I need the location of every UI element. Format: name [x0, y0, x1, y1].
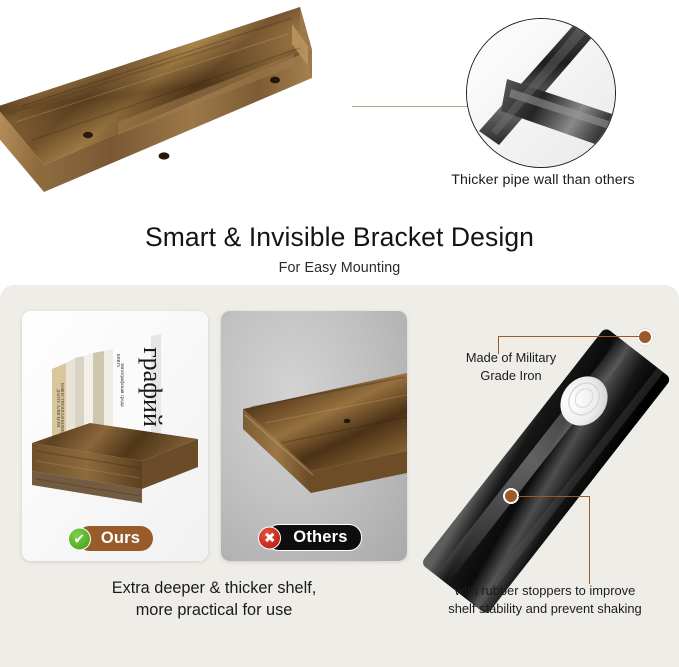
ours-scene: БОЖЕСТВЕННАЯ КОМЕДИЯ ДАНТЕ АЛИГЬЕРИ граф…: [22, 311, 208, 561]
marker-dot-stopper: [503, 488, 519, 504]
comparison-block: БОЖЕСТВЕННАЯ КОМЕДИЯ ДАНТЕ АЛИГЬЕРИ граф…: [22, 311, 408, 561]
caption-right: with rubber stoppers to improve shelf st…: [414, 582, 676, 618]
card-others: ✖ Others: [221, 311, 407, 561]
caption-left: Extra deeper & thicker shelf, more pract…: [14, 577, 414, 621]
mounting-hole: [83, 132, 93, 138]
mounting-hole: [159, 152, 170, 159]
caption-thicker-pipe: Thicker pipe wall than others: [418, 172, 668, 188]
mounting-hole: [344, 419, 351, 423]
badge-ours-label: Ours: [101, 529, 140, 548]
badge-row-others: ✖ Others: [221, 524, 407, 551]
connector-line: [352, 106, 474, 107]
others-shelf: [243, 373, 407, 493]
badge-others: ✖ Others: [266, 524, 361, 551]
caption-left-line1: Extra deeper & thicker shelf,: [14, 577, 414, 599]
badge-row-ours: ✔ Ours: [22, 526, 208, 551]
leader-line-military-h: [498, 336, 640, 337]
page-title: Smart & Invisible Bracket Design: [0, 222, 679, 253]
badge-ours: ✔ Ours: [77, 526, 153, 551]
card-ours: БОЖЕСТВЕННАЯ КОМЕДИЯ ДАНТЕ АЛИГЬЕРИ граф…: [22, 311, 208, 561]
magnifier-content: [467, 19, 615, 167]
red-cross-circle-icon: ✖: [258, 526, 281, 549]
annotation-military-line2: Grade Iron: [446, 367, 576, 385]
marker-dot-military: [637, 329, 653, 345]
mounting-hole: [270, 77, 280, 84]
green-check-circle-icon: ✔: [68, 527, 91, 550]
pipe-zone: Made of Military Grade Iron with rubber …: [408, 285, 679, 667]
badge-others-label: Others: [293, 528, 347, 547]
leader-line-stopper-h: [518, 496, 590, 497]
leader-line-stopper-v: [589, 496, 590, 584]
svg-text:КНИГА: КНИГА: [116, 354, 121, 367]
page-subtitle: For Easy Mounting: [0, 260, 679, 276]
caption-right-line1: with rubber stoppers to improve: [414, 582, 676, 600]
svg-text:ДАНТЕ АЛИГЬЕРИ: ДАНТЕ АЛИГЬЕРИ: [56, 389, 61, 428]
annotation-military-iron: Made of Military Grade Iron: [446, 349, 576, 385]
rustic-wood-floating-shelf: [0, 2, 462, 202]
caption-right-line2: shelf stability and prevent shaking: [414, 600, 676, 618]
shelf-svg: [0, 2, 462, 202]
top-section: Thicker pipe wall than others: [0, 0, 679, 215]
svg-text:типографская среда: типографская среда: [119, 363, 126, 407]
magnified-pipe-wall-detail: [466, 18, 616, 168]
feature-panel: БОЖЕСТВЕННАЯ КОМЕДИЯ ДАНТЕ АЛИГЬЕРИ граф…: [0, 285, 679, 667]
annotation-military-line1: Made of Military: [446, 349, 576, 367]
caption-left-line2: more practical for use: [14, 599, 414, 621]
infographic-stage: Thicker pipe wall than others Smart & In…: [0, 0, 679, 667]
svg-text:графий: графий: [138, 347, 167, 427]
